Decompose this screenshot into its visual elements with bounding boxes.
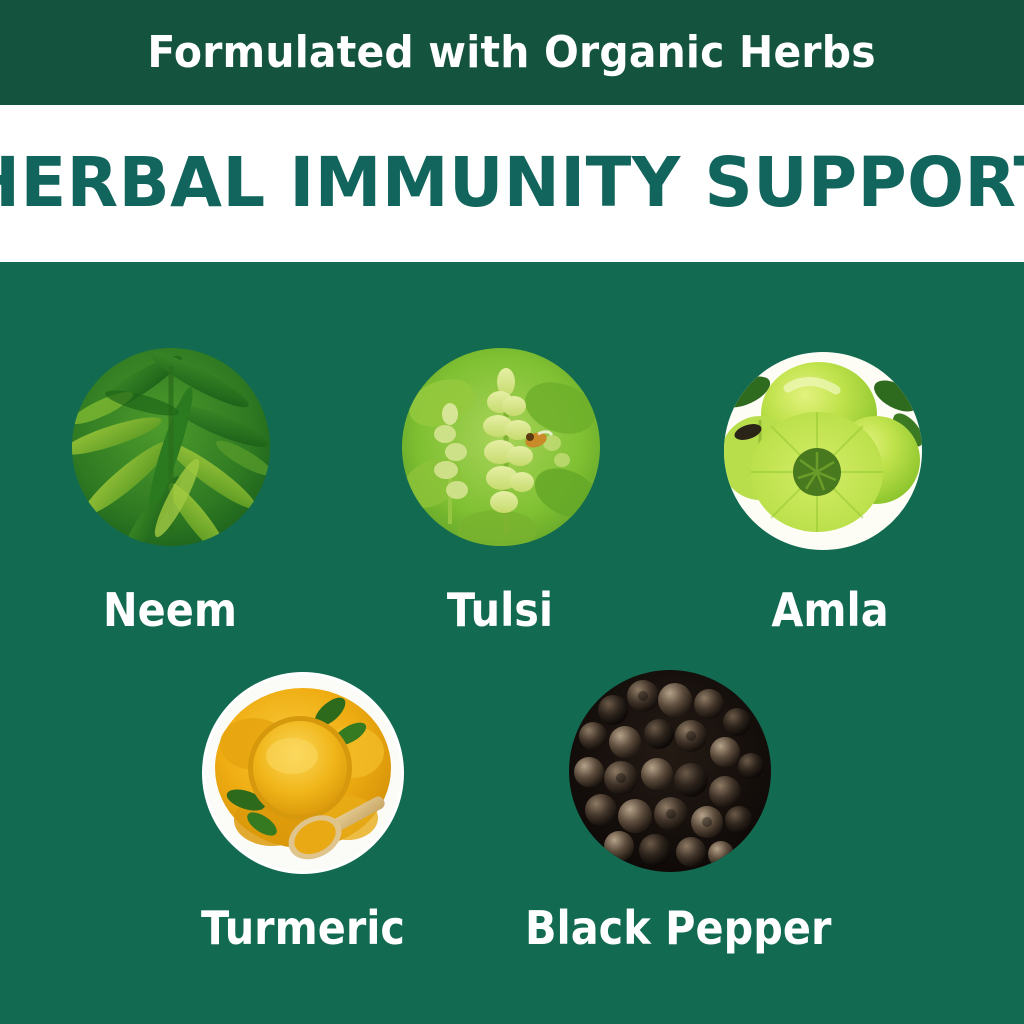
tulsi-flower-icon xyxy=(402,348,600,546)
turmeric-powder-icon xyxy=(202,672,404,874)
herb-label-black-pepper: Black Pepper xyxy=(525,905,831,951)
title-band: HERBAL IMMUNITY SUPPORT xyxy=(0,105,1024,262)
page-title: HERBAL IMMUNITY SUPPORT xyxy=(0,149,1024,218)
herb-label-tulsi: Tulsi xyxy=(347,587,653,633)
black-peppercorns-icon xyxy=(569,670,771,872)
amla-gooseberry-icon xyxy=(724,352,922,550)
neem-leaves-icon xyxy=(72,348,270,546)
herb-label-neem: Neem xyxy=(17,587,323,633)
tulsi-flower-photo xyxy=(402,348,600,546)
herb-label-turmeric: Turmeric xyxy=(150,905,456,951)
poster-root: Formulated with Organic Herbs HERBAL IMM… xyxy=(0,0,1024,1024)
top-banner: Formulated with Organic Herbs xyxy=(0,0,1024,105)
herb-label-amla: Amla xyxy=(677,587,983,633)
black-peppercorns-photo xyxy=(569,670,771,872)
banner-headline: Formulated with Organic Herbs xyxy=(148,31,876,75)
turmeric-powder-photo xyxy=(202,672,404,874)
herb-grid: Neem xyxy=(0,262,1024,1024)
neem-leaves-photo xyxy=(72,348,270,546)
amla-gooseberry-photo xyxy=(724,352,922,550)
